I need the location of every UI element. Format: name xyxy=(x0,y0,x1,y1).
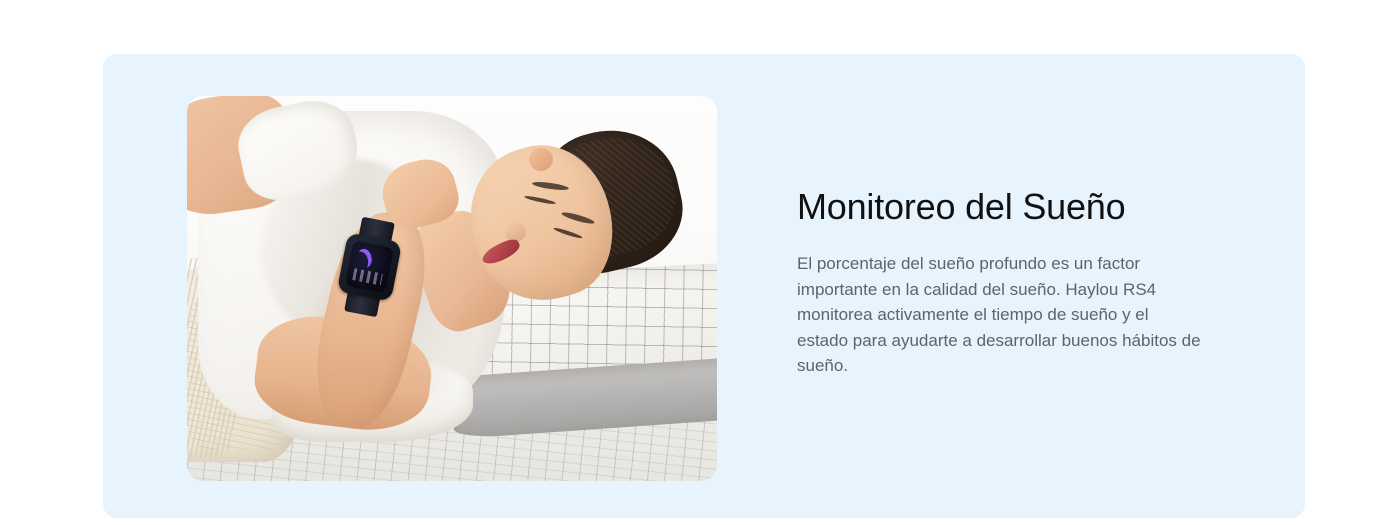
photo-illustration xyxy=(187,96,717,481)
crescent-moon-icon xyxy=(355,247,372,268)
smartwatch-sleep-digits xyxy=(352,267,383,284)
feature-description: El porcentaje del sueño profundo es un f… xyxy=(797,251,1201,379)
sleep-monitoring-photo xyxy=(187,96,717,481)
smartwatch-screen xyxy=(345,240,394,293)
feature-title: Monitoreo del Sueño xyxy=(797,185,1207,229)
feature-panel: Monitoreo del Sueño El porcentaje del su… xyxy=(103,54,1305,518)
page-root: Monitoreo del Sueño El porcentaje del su… xyxy=(0,0,1400,525)
smartwatch-body xyxy=(337,232,402,301)
feature-text-column: Monitoreo del Sueño El porcentaje del su… xyxy=(797,185,1207,379)
photo-smartwatch xyxy=(337,232,402,301)
